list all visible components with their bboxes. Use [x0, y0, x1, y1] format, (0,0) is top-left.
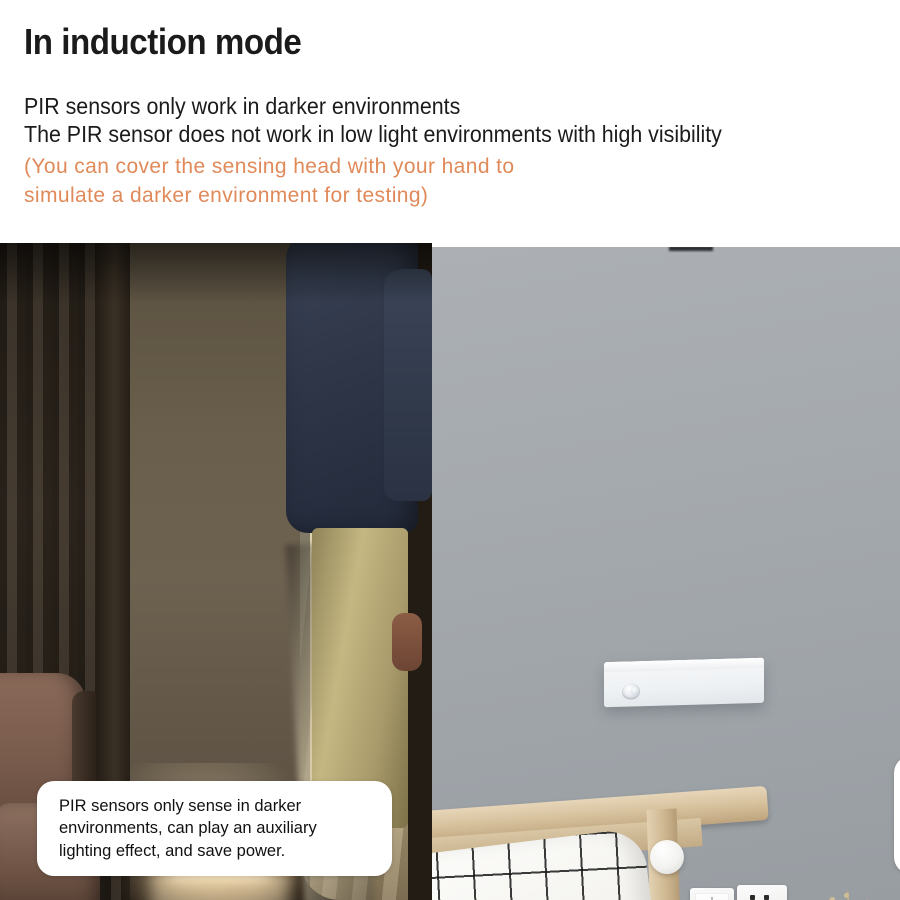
light-switch[interactable]: [690, 888, 734, 900]
top-white-strip: [432, 243, 900, 247]
top-shadow-gradient: [0, 243, 432, 303]
dried-flowers: [800, 891, 900, 900]
switch-rocker[interactable]: [695, 893, 729, 900]
subtitle-line-2: The PIR sensor does not work in low ligh…: [24, 120, 824, 148]
note-line-2: simulate a darker environment for testin…: [24, 181, 884, 210]
led-bar-light-off: [604, 658, 764, 707]
subtitle-line-1: PIR sensors only work in darker environm…: [24, 92, 824, 120]
note-block: (You can cover the sensing head with you…: [24, 152, 884, 210]
page-title: In induction mode: [24, 21, 301, 63]
left-photo-panel: PIR sensors only sense in darker environ…: [0, 243, 432, 900]
power-socket[interactable]: [737, 885, 787, 900]
pompom-decoration: [650, 840, 684, 874]
person-hand: [392, 613, 422, 671]
note-line-1: (You can cover the sensing head with you…: [24, 152, 884, 181]
photo-comparison-strip: PIR sensors only sense in darker environ…: [0, 243, 900, 900]
pir-sensor-icon: [622, 683, 640, 700]
person-sleeve: [384, 269, 432, 501]
bright-room-scene: [432, 243, 900, 900]
header-text-block: In induction mode PIR sensors only work …: [0, 0, 900, 243]
socket-hole-right: [764, 895, 769, 900]
left-caption-bubble: PIR sensors only sense in darker environ…: [37, 781, 392, 877]
led-bar-top-face: [604, 658, 764, 672]
socket-hole-left: [750, 895, 755, 900]
door-frame-edge: [96, 243, 130, 843]
right-photo-panel: In low light environments, visibility is…: [432, 243, 900, 900]
subtitle-block: PIR sensors only work in darker environm…: [24, 92, 884, 210]
right-caption-bubble: In low light environments, visibility is…: [894, 756, 900, 874]
